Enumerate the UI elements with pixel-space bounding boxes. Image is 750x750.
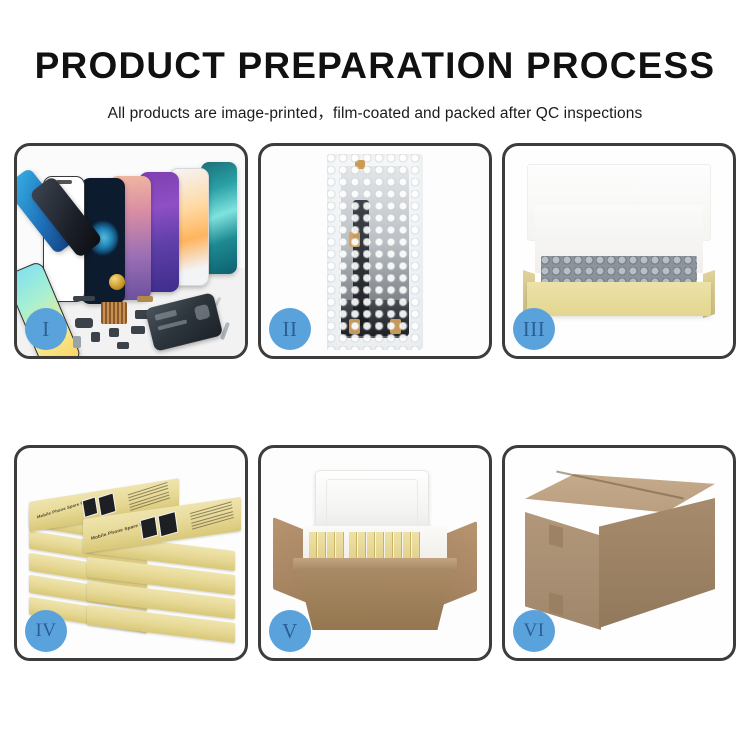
carton-tape-upper bbox=[549, 524, 563, 547]
step-badge-5: V bbox=[269, 610, 311, 652]
bubble-wrap-bag bbox=[327, 154, 423, 350]
carton-body bbox=[297, 568, 453, 630]
step-badge-6: VI bbox=[513, 610, 555, 652]
step-panel-6[interactable]: VI bbox=[502, 445, 736, 661]
box-screen-img-f1 bbox=[140, 516, 159, 540]
step-badge-1: I bbox=[25, 308, 67, 350]
page-title: PRODUCT PREPARATION PROCESS bbox=[0, 0, 750, 84]
step-panel-3[interactable]: III bbox=[502, 143, 736, 359]
part-connector-2 bbox=[131, 326, 145, 334]
sealed-carton bbox=[525, 474, 715, 642]
part-gold-flex bbox=[137, 296, 153, 302]
carton-tape-lower bbox=[549, 592, 563, 615]
box-text-lines-front bbox=[190, 501, 234, 531]
bubble-texture bbox=[327, 154, 423, 350]
part-flex-1 bbox=[75, 318, 93, 328]
part-small-3 bbox=[73, 336, 81, 348]
part-small-4 bbox=[117, 342, 129, 349]
open-shipping-carton bbox=[275, 470, 475, 636]
page-root: PRODUCT PREPARATION PROCESS All products… bbox=[0, 0, 750, 750]
step-badge-2: II bbox=[269, 308, 311, 350]
step-panel-5[interactable]: V bbox=[258, 445, 492, 661]
page-subtitle: All products are image-printed，film-coat… bbox=[0, 84, 750, 122]
step-panel-4[interactable]: Mobile Phone Spare Parts bbox=[14, 445, 248, 661]
gold-speaker-part bbox=[109, 274, 125, 290]
box-screen-img-b2 bbox=[98, 492, 117, 516]
step-badge-3: III bbox=[513, 308, 555, 350]
step-panel-1[interactable]: I bbox=[14, 143, 248, 359]
box-screen-img-f2 bbox=[158, 511, 179, 537]
open-yellow-box bbox=[523, 164, 715, 320]
process-steps-grid: I II bbox=[14, 143, 736, 695]
chip-grid-part bbox=[101, 302, 127, 324]
box-front-wall bbox=[527, 282, 711, 316]
part-small-2 bbox=[91, 332, 100, 342]
box-screen-img-b1 bbox=[82, 496, 99, 518]
step-badge-4: IV bbox=[25, 610, 67, 652]
part-strip-1 bbox=[73, 296, 95, 301]
step-panel-2[interactable]: II bbox=[258, 143, 492, 359]
carton-right-face bbox=[599, 498, 715, 628]
page-header: PRODUCT PREPARATION PROCESS All products… bbox=[0, 0, 750, 122]
part-small-1 bbox=[109, 328, 119, 337]
